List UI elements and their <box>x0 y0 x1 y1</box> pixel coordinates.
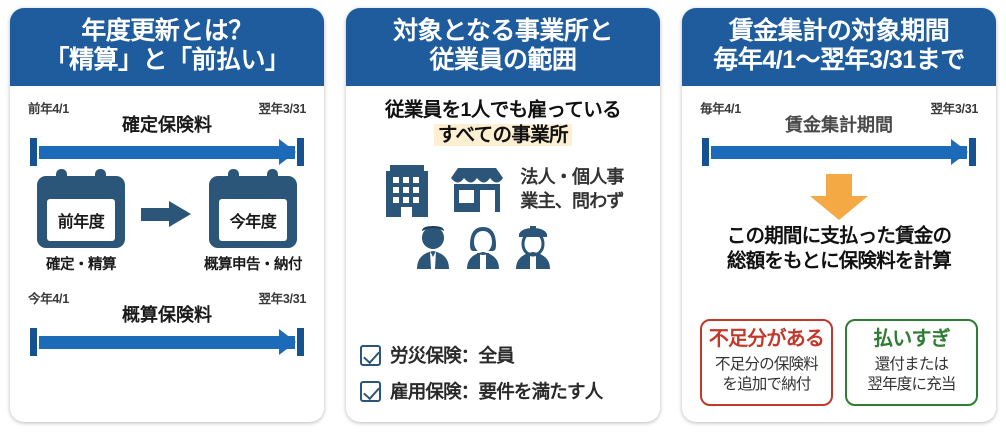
calendar-unit-previous-year: 前年度 確定・精算 <box>29 176 133 274</box>
timeline-kakutei: 前年4/1 翌年3/31 確定保険料 <box>24 98 310 170</box>
panel-3-title-line1: 賃金集計の対象期間 <box>686 17 992 46</box>
outcome-overpaid-desc-line2: 翌年度に充当 <box>867 376 955 393</box>
panel-3-body: 毎年4/1 翌年3/31 賃金集計期間 この期間に支払った賃金の 総額をもとに保… <box>682 86 996 422</box>
outcome-overpaid-title: 払いすぎ <box>851 327 972 351</box>
outcome-shortfall-title: 不足分がある <box>706 327 827 351</box>
female-worker-avatar-icon <box>462 225 504 269</box>
business-type-text: 法人・個人事 業主、問わず <box>520 166 623 213</box>
panel-2-header: 対象となる事業所と 従業員の範囲 <box>346 8 660 86</box>
timeline-arrow-icon <box>711 146 967 159</box>
employee-avatars <box>346 225 646 269</box>
calculation-note: この期間に支払った賃金の 総額をもとに保険料を計算 <box>696 224 982 275</box>
calendar-page-label: 前年度 <box>47 199 115 241</box>
check-label: 雇用保険：要件を満たす人 <box>390 378 602 404</box>
outcome-shortfall-desc-line1: 不足分の保険料 <box>715 356 818 373</box>
timeline-kakutei-track <box>30 138 304 166</box>
panel-taisho-jigyosho: 対象となる事業所と 従業員の範囲 従業員を1人でも雇っている すべての事業所 <box>346 8 660 422</box>
business-type-line2: 業主、問わず <box>520 191 623 211</box>
insurance-check-list: 労災保険：全員 雇用保険：要件を満たす人 <box>360 332 646 414</box>
business-type-row: 法人・個人事 業主、問わず <box>360 159 646 221</box>
shop-storefront-icon <box>448 165 506 215</box>
down-arrow-icon <box>810 174 868 220</box>
panel-2-lead-line1: 従業員を1人でも雇っている <box>385 99 621 121</box>
timeline-end-tick-icon <box>297 328 304 356</box>
calendar-ring-left-icon <box>228 169 239 186</box>
panel-1-header: 年度更新とは？ 「精算」と「前払い」 <box>10 8 324 86</box>
timeline-end-tick-icon <box>297 138 304 166</box>
timeline-chingin-track <box>702 138 976 166</box>
business-type-line1: 法人・個人事 <box>520 167 623 187</box>
timeline-arrow-icon <box>39 336 295 349</box>
timeline-end-tick-icon <box>969 138 976 166</box>
calendar-flow: 前年度 確定・精算 今年度 概算申告・納付 <box>24 176 310 274</box>
calendar-icon: 今年度 <box>209 176 297 248</box>
outcome-overpaid: 払いすぎ 還付または 翌年度に充当 <box>845 319 978 406</box>
timeline-chingin: 毎年4/1 翌年3/31 賃金集計期間 <box>696 98 982 170</box>
office-building-icon <box>382 159 438 221</box>
calendar-icon: 前年度 <box>37 176 125 248</box>
panel-chingin-shukei: 賃金集計の対象期間 毎年4/1〜翌年3/31まで 毎年4/1 翌年3/31 賃金… <box>682 8 996 422</box>
panel-3-header: 賃金集計の対象期間 毎年4/1〜翌年3/31まで <box>682 8 996 86</box>
panel-1-title-line1: 年度更新とは？ <box>14 17 320 46</box>
calendar-caption: 確定・精算 <box>46 253 116 274</box>
outcome-overpaid-desc-line1: 還付または <box>875 356 949 373</box>
calculation-note-line1: この期間に支払った賃金の <box>727 225 951 247</box>
timeline-start-tick-icon <box>702 138 709 166</box>
outcome-shortfall-desc-line2: を追加で納付 <box>722 376 810 393</box>
checkbox-checked-icon[interactable] <box>360 345 381 366</box>
panel-1-body: 前年4/1 翌年3/31 確定保険料 前年度 確定・精算 <box>10 86 324 422</box>
panel-2-body: 従業員を1人でも雇っている すべての事業所 <box>346 86 660 422</box>
right-arrow-icon <box>141 201 193 227</box>
timeline-gaisan: 今年4/1 翌年3/31 概算保険料 <box>24 288 310 360</box>
panel-2-title-line1: 対象となる事業所と <box>350 17 656 46</box>
check-item-rosai[interactable]: 労災保険：全員 <box>360 342 646 368</box>
timeline-chingin-caption: 賃金集計期間 <box>696 111 982 137</box>
outcome-shortfall: 不足分がある 不足分の保険料 を追加で納付 <box>700 319 833 406</box>
timeline-start-tick-icon <box>30 328 37 356</box>
check-label: 労災保険：全員 <box>390 342 514 368</box>
calendar-ring-left-icon <box>56 169 67 186</box>
panel-2-lead-highlight: すべての事業所 <box>434 124 572 146</box>
panel-2-lead: 従業員を1人でも雇っている すべての事業所 <box>360 98 646 149</box>
timeline-kakutei-caption: 確定保険料 <box>24 111 310 137</box>
calendar-ring-right-icon <box>95 169 106 186</box>
calendar-ring-right-icon <box>267 169 278 186</box>
outcome-overpaid-desc: 還付または 翌年度に充当 <box>851 355 972 395</box>
calendar-unit-current-year: 今年度 概算申告・納付 <box>201 176 305 274</box>
infographic-board: 年度更新とは？ 「精算」と「前払い」 前年4/1 翌年3/31 確定保険料 <box>0 0 1006 432</box>
timeline-gaisan-caption: 概算保険料 <box>24 301 310 327</box>
timeline-start-tick-icon <box>30 138 37 166</box>
outcome-row: 不足分がある 不足分の保険料 を追加で納付 払いすぎ 還付または 翌年度に充当 <box>696 319 982 414</box>
timeline-arrow-icon <box>39 146 295 159</box>
calculation-note-line2: 総額をもとに保険料を計算 <box>727 250 951 272</box>
panel-nendo-koushin: 年度更新とは？ 「精算」と「前払い」 前年4/1 翌年3/31 確定保険料 <box>10 8 324 422</box>
calendar-page-label: 今年度 <box>219 199 287 241</box>
calendar-caption: 概算申告・納付 <box>204 253 302 274</box>
panel-3-title-line2: 毎年4/1〜翌年3/31まで <box>686 46 992 75</box>
uniformed-worker-avatar-icon <box>512 225 554 269</box>
panel-2-title-line2: 従業員の範囲 <box>350 46 656 75</box>
timeline-gaisan-track <box>30 328 304 356</box>
businessman-avatar-icon <box>412 225 454 269</box>
check-item-koyo[interactable]: 雇用保険：要件を満たす人 <box>360 378 646 404</box>
outcome-shortfall-desc: 不足分の保険料 を追加で納付 <box>706 355 827 395</box>
checkbox-checked-icon[interactable] <box>360 381 381 402</box>
panel-1-title-line2: 「精算」と「前払い」 <box>14 46 320 75</box>
